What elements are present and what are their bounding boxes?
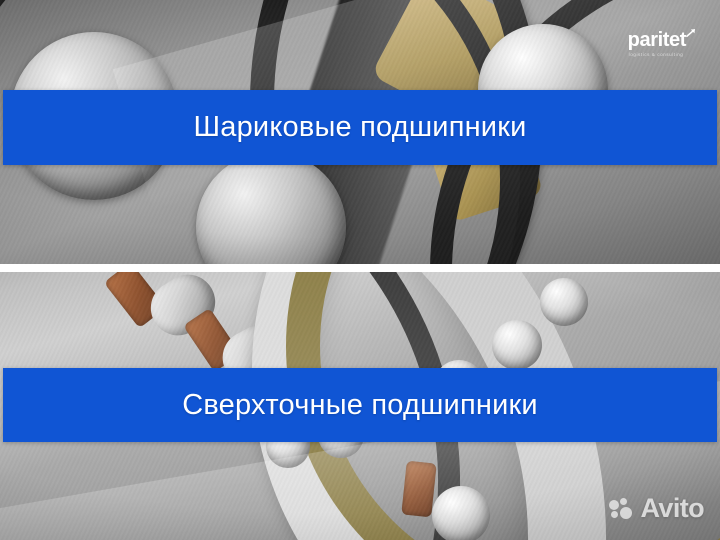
caption-bar-precision-bearings: Сверхточные подшипники — [3, 368, 717, 442]
avito-watermark: Avito — [609, 493, 705, 524]
avito-dots-icon — [609, 498, 635, 520]
logo-wordmark: paritet — [628, 30, 686, 50]
logo-tagline: logistics & consulting — [629, 53, 686, 58]
caption-bar-ball-bearings: Шариковые подшипники — [3, 90, 717, 165]
paritet-logo: paritet logistics & consulting — [628, 30, 686, 58]
bearing-ball — [540, 278, 588, 326]
caption-text-ball-bearings: Шариковые подшипники — [194, 111, 527, 144]
avito-wordmark: Avito — [641, 493, 705, 524]
poster-canvas: Шариковые подшипники Сверхточные подшипн… — [0, 0, 720, 540]
bearing-ball — [492, 320, 542, 370]
caption-text-precision-bearings: Сверхточные подшипники — [182, 389, 538, 422]
panel-divider — [0, 264, 720, 272]
arrow-up-right-icon — [686, 27, 697, 38]
